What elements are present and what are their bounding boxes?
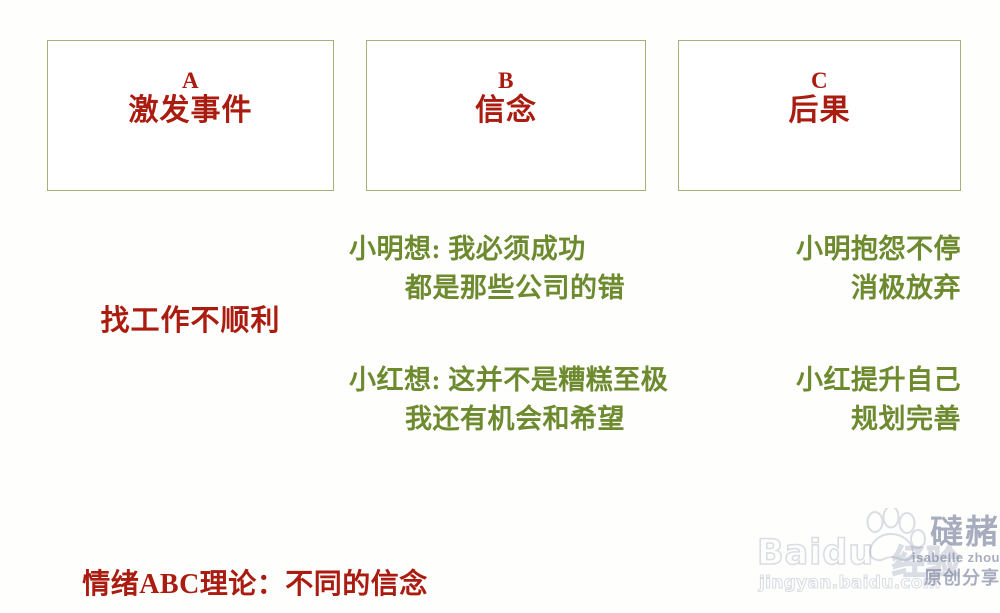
column-c-block-2-line-1: 小红提升自己 — [796, 365, 961, 395]
header-box-a: A 激发事件 — [47, 40, 334, 191]
header-box-a-content: A 激发事件 — [48, 69, 333, 126]
author-watermark-name-cn: 䃮赭 — [880, 515, 1000, 550]
slide-caption: 情绪ABC理论：不同的信念 — [0, 562, 1000, 602]
column-b-block-1-line-1: 小明想: 我必须成功 — [349, 234, 586, 264]
column-b-block-2: 小红想: 这并不是糟糕至极 我还有机会和希望 — [349, 361, 689, 439]
header-box-c: C 后果 — [678, 40, 961, 191]
header-box-a-letter: A — [48, 69, 333, 93]
header-box-b-title: 信念 — [367, 95, 645, 126]
column-a-event-text: 找工作不顺利 — [47, 303, 334, 339]
header-box-c-title: 后果 — [679, 95, 960, 126]
header-box-b-content: B 信念 — [367, 69, 645, 126]
header-box-b-letter: B — [367, 69, 645, 93]
column-c-block-2-line-2: 规划完善 — [851, 404, 961, 434]
column-b-block-1-line-2: 都是那些公司的错 — [349, 269, 689, 308]
column-c-block-1: 小明抱怨不停 消极放弃 — [700, 230, 961, 308]
column-c-block-1-line-1: 小明抱怨不停 — [796, 234, 961, 264]
column-b-block-2-line-1: 小红想: 这并不是糟糕至极 — [349, 365, 668, 395]
column-c-block-2: 小红提升自己 规划完善 — [700, 361, 961, 439]
header-box-a-title: 激发事件 — [48, 95, 333, 126]
header-box-b: B 信念 — [366, 40, 646, 191]
column-c-block-1-line-2: 消极放弃 — [851, 273, 961, 303]
column-b-block-2-line-2: 我还有机会和希望 — [349, 400, 689, 439]
paw-icon — [858, 508, 928, 564]
header-box-c-content: C 后果 — [679, 69, 960, 126]
column-b-block-1: 小明想: 我必须成功 都是那些公司的错 — [349, 230, 689, 308]
header-box-c-letter: C — [679, 69, 960, 93]
